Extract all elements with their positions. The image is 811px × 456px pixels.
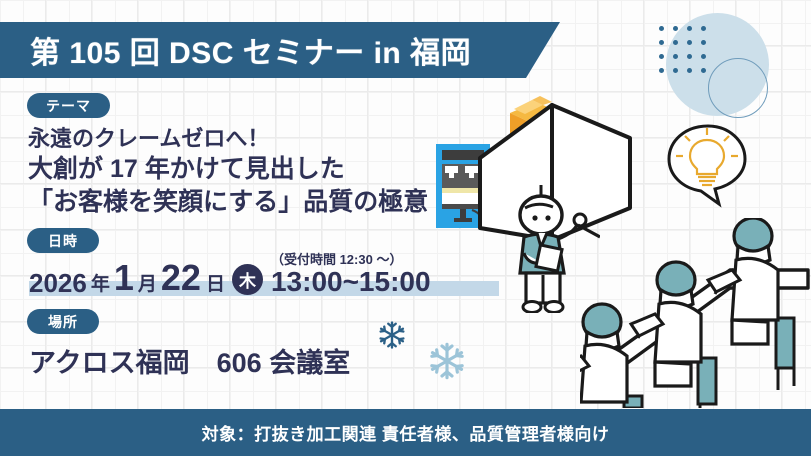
theme-label-badge: テーマ: [27, 93, 110, 118]
date-month-unit: 月: [138, 275, 157, 294]
theme-line-3: 「お客様を笑顔にする」品質の極意: [28, 186, 458, 219]
snowflake-icon: [427, 341, 467, 381]
title-banner: 第 105 回 DSC セミナー in 福岡: [0, 22, 560, 78]
date-month: 1: [114, 260, 134, 296]
seated-attendees-figure: [580, 218, 811, 408]
dot-grid-decor: [659, 26, 715, 82]
page-title: 第 105 回 DSC セミナー in 福岡: [30, 28, 471, 72]
time-block: （受付時間 12:30 ～） 13:00~15:00: [271, 253, 431, 296]
theme-line-1: 永遠のクレームゼロへ！: [28, 124, 458, 153]
footer-bar: 対象：打抜き加工関連 責任者様、品質管理者様向け: [0, 409, 811, 456]
date-day-unit: 日: [206, 275, 225, 294]
place-value: アクロス福岡 606 会議室: [29, 341, 350, 380]
theme-text: 永遠のクレームゼロへ！ 大創が 17 年かけて見出した 「お客様を笑顔にする」品…: [28, 124, 458, 219]
seminar-time-range: 13:00~15:00: [271, 268, 431, 296]
footer-text: 対象：打抜き加工関連 責任者様、品質管理者様向け: [202, 420, 610, 445]
seminar-poster: 第 105 回 DSC セミナー in 福岡 テーマ 永遠のクレームゼロへ！ 大…: [0, 0, 811, 456]
date-day: 22: [161, 260, 201, 296]
snowflake-icon: [377, 320, 407, 350]
reception-time: （受付時間 12:30 ～）: [271, 253, 402, 267]
lightbulb-speech-bubble-icon: [663, 122, 753, 208]
date-year: 2026: [29, 270, 87, 296]
seminar-illustration: [420, 90, 811, 405]
theme-line-2: 大創が 17 年かけて見出した: [28, 153, 458, 186]
weekday-badge: 木: [232, 264, 263, 295]
datetime-value: 2026 年 1 月 22 日 木 （受付時間 12:30 ～） 13:00~1…: [29, 248, 431, 296]
place-label-badge: 場所: [27, 309, 99, 334]
date-year-unit: 年: [91, 275, 110, 294]
